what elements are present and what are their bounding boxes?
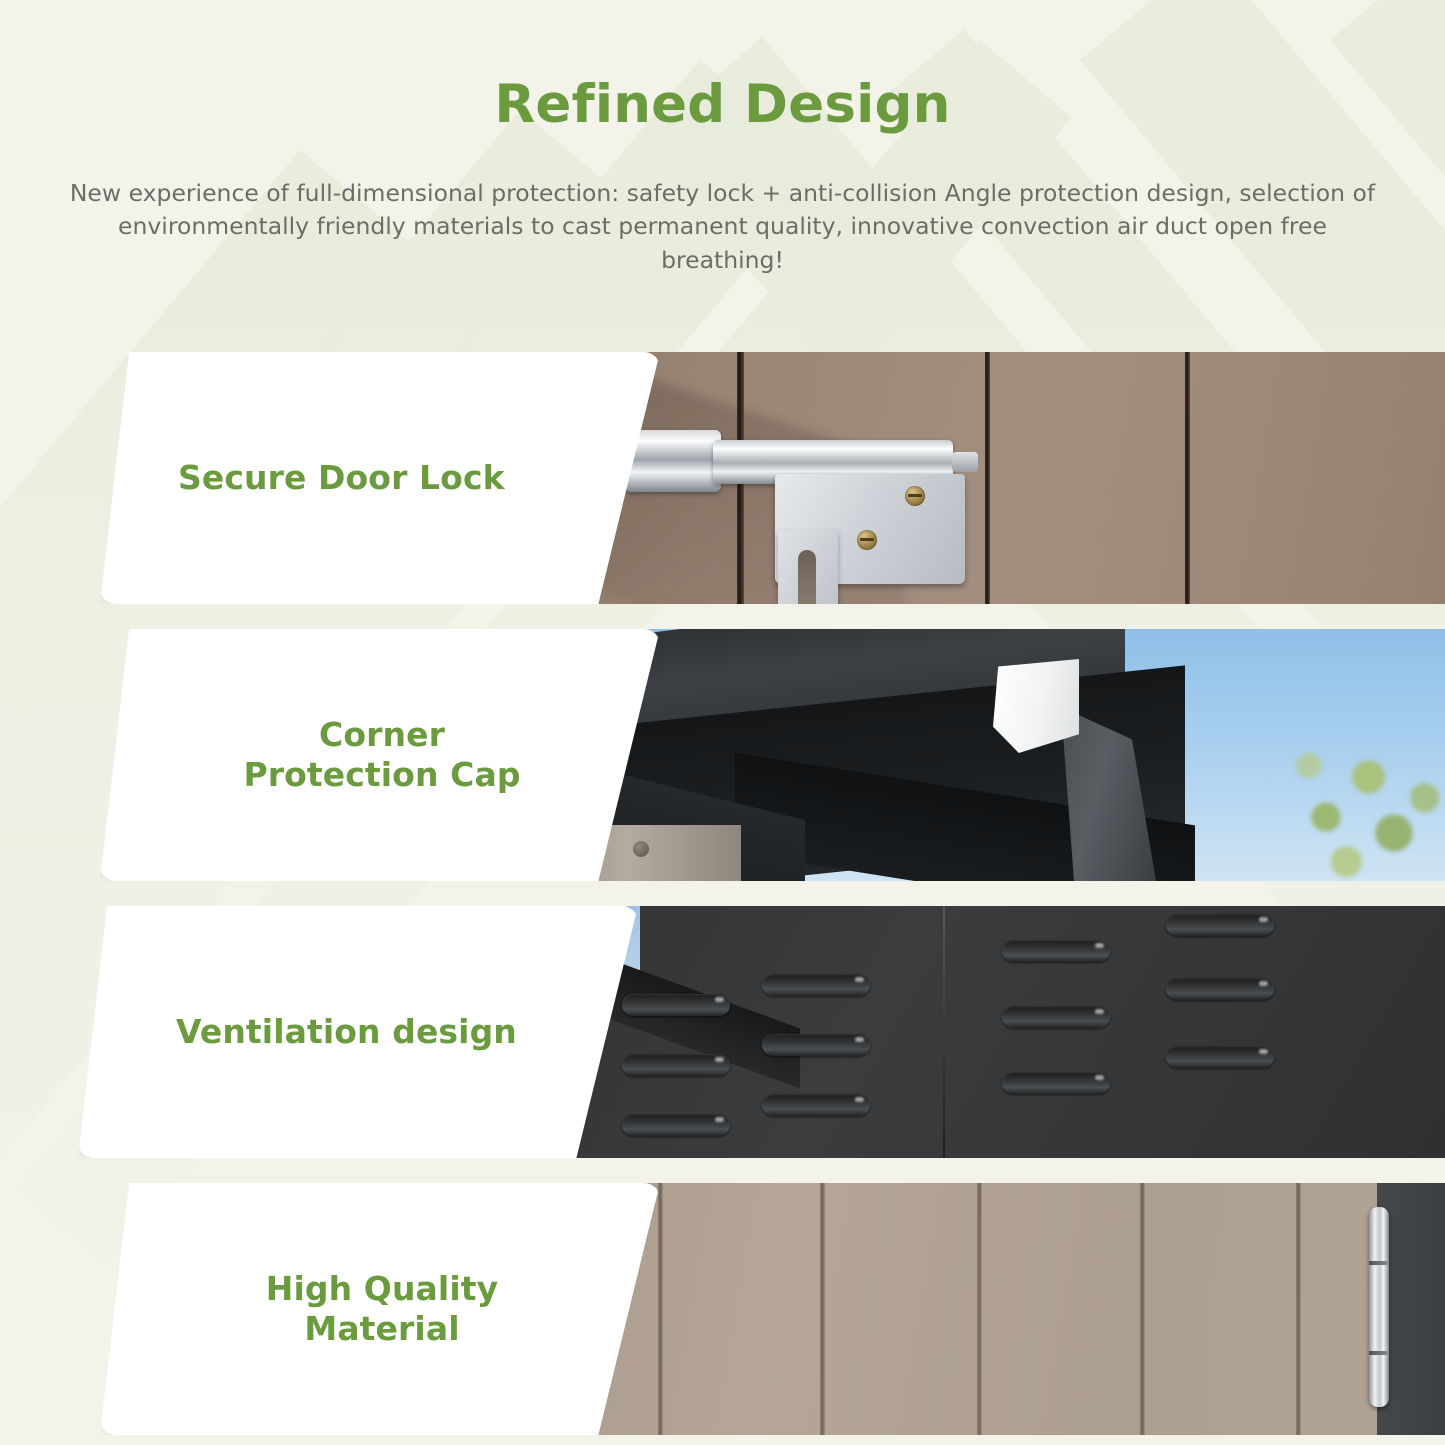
feature-label: Secure Door Lock <box>100 458 660 498</box>
panel-groove <box>1140 1183 1146 1435</box>
screw-icon <box>857 530 877 550</box>
door-seam <box>1185 352 1190 604</box>
page-subtitle: New experience of full-dimensional prote… <box>58 177 1388 277</box>
louver-vent <box>762 974 870 996</box>
lock-padlock-slot <box>798 550 816 604</box>
feature-list: Secure Door Lock Corner Protection Ca <box>0 352 1445 1435</box>
door-lock-photo <box>515 352 1445 604</box>
feature-card[interactable]: High Quality Material <box>100 1183 660 1435</box>
louver-vent <box>1166 1046 1274 1068</box>
lock-barrel <box>625 430 721 492</box>
feature-label-line-1: High Quality <box>178 1269 586 1309</box>
feature-card[interactable]: Corner Protection Cap <box>100 629 660 881</box>
louver-vent <box>762 1094 870 1116</box>
louver-vent <box>1002 1006 1110 1028</box>
panel-groove <box>658 1183 664 1435</box>
page-title: Refined Design <box>0 78 1445 131</box>
feature-label-line-2: Material <box>178 1309 586 1349</box>
header: Refined Design New experience of full-di… <box>0 0 1445 277</box>
hinge-barrel <box>1369 1207 1389 1407</box>
feature-row: Corner Protection Cap <box>0 629 1445 881</box>
ventilation-photo <box>490 906 1445 1158</box>
feature-label-line-2: Protection Cap <box>178 755 586 795</box>
feature-card[interactable]: Secure Door Lock <box>100 352 660 604</box>
infographic-page: Refined Design New experience of full-di… <box>0 0 1445 1445</box>
panel-groove <box>820 1183 826 1435</box>
louver-vent <box>622 1114 730 1136</box>
panel-groove <box>1296 1183 1302 1435</box>
panel-groove <box>977 1183 983 1435</box>
louver-vent <box>762 1034 870 1056</box>
feature-label-line-1: Corner <box>178 715 586 755</box>
tree-foliage <box>1275 721 1445 881</box>
lock-knob <box>952 452 978 472</box>
louver-vent <box>622 1054 730 1076</box>
louver-vent <box>1166 978 1274 1000</box>
louver-vent <box>622 994 730 1016</box>
corner-cap-photo <box>515 629 1445 881</box>
hinge-joint <box>1369 1261 1389 1265</box>
louver-vent <box>1002 1072 1110 1094</box>
door-seam <box>985 352 990 604</box>
hinge-joint <box>1369 1351 1389 1355</box>
louver-vent <box>1002 940 1110 962</box>
screw-icon <box>633 841 649 857</box>
feature-label: Ventilation design <box>78 1012 638 1052</box>
feature-row: High Quality Material <box>0 1183 1445 1435</box>
feature-label: Corner Protection Cap <box>100 715 660 796</box>
panel-seam <box>943 906 945 1158</box>
feature-label: High Quality Material <box>100 1269 660 1350</box>
feature-card[interactable]: Ventilation design <box>78 906 638 1158</box>
feature-row: Ventilation design <box>0 906 1445 1158</box>
screw-icon <box>905 486 925 506</box>
feature-row: Secure Door Lock <box>0 352 1445 604</box>
louver-vent <box>1166 914 1274 936</box>
